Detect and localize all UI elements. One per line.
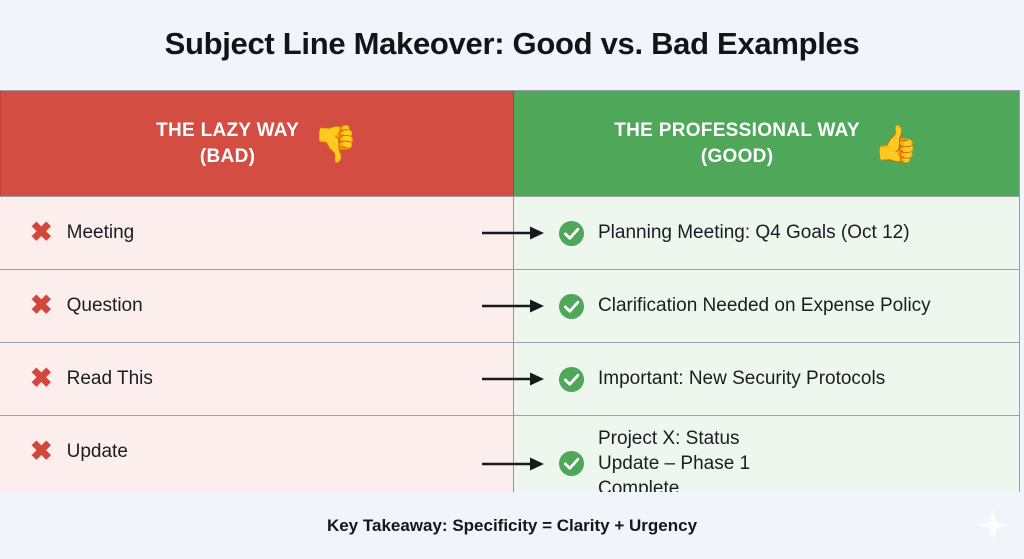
comparison-table: THE LAZY WAY (BAD) 👎 THE PROFESSIONAL WA… bbox=[0, 90, 1020, 512]
x-mark-icon: ✖ bbox=[30, 292, 53, 319]
row-cell-bad: ✖ Question bbox=[0, 270, 513, 342]
good-subject-text: Important: New Security Protocols bbox=[598, 366, 885, 391]
footer: Key Takeaway: Specificity = Clarity + Ur… bbox=[0, 492, 1024, 559]
header-bad-label: THE LAZY WAY (BAD) bbox=[156, 118, 299, 168]
header-good-line1: THE PROFESSIONAL WAY bbox=[614, 120, 860, 141]
x-mark-icon: ✖ bbox=[30, 219, 53, 246]
row-cell-good: Clarification Needed on Expense Policy bbox=[513, 270, 1019, 342]
header-cell-good: THE PROFESSIONAL WAY (GOOD) 👍 bbox=[513, 91, 1019, 196]
header-bad-line1: THE LAZY WAY bbox=[156, 120, 299, 141]
bad-subject-text: Read This bbox=[67, 368, 153, 390]
row-cell-bad: ✖ Meeting bbox=[0, 197, 513, 269]
bad-subject-text: Meeting bbox=[67, 222, 135, 244]
table-row: ✖ Meeting Planning Meeting: Q4 Goals (Oc… bbox=[0, 196, 1019, 269]
x-mark-icon: ✖ bbox=[30, 365, 53, 392]
check-circle-icon bbox=[558, 293, 585, 320]
thumbs-down-icon: 👎 bbox=[313, 126, 358, 162]
table-row: ✖ Read This Important: New Security Prot… bbox=[0, 342, 1019, 415]
good-subject-text: Planning Meeting: Q4 Goals (Oct 12) bbox=[598, 220, 910, 245]
check-circle-icon bbox=[558, 450, 585, 477]
x-mark-icon: ✖ bbox=[30, 438, 53, 465]
good-subject-text: Project X: Status Update – Phase 1 Compl… bbox=[598, 426, 779, 501]
thumbs-up-icon: 👍 bbox=[874, 126, 919, 162]
header-bad-line2: (BAD) bbox=[200, 146, 255, 167]
key-takeaway-text: Key Takeaway: Specificity = Clarity + Ur… bbox=[327, 516, 697, 536]
row-cell-good: Planning Meeting: Q4 Goals (Oct 12) bbox=[513, 197, 1019, 269]
check-circle-icon bbox=[558, 366, 585, 393]
page-title: Subject Line Makeover: Good vs. Bad Exam… bbox=[0, 0, 1024, 61]
good-subject-text: Clarification Needed on Expense Policy bbox=[598, 293, 931, 318]
bad-subject-text: Update bbox=[67, 441, 128, 463]
table-row: ✖ Question Clarification Needed on Expen… bbox=[0, 269, 1019, 342]
four-point-star-icon bbox=[976, 508, 1010, 542]
row-cell-good: Important: New Security Protocols bbox=[513, 343, 1019, 415]
check-circle-icon bbox=[558, 220, 585, 247]
header-cell-bad: THE LAZY WAY (BAD) 👎 bbox=[0, 91, 513, 196]
bad-subject-text: Question bbox=[67, 295, 143, 317]
header-good-label: THE PROFESSIONAL WAY (GOOD) bbox=[614, 118, 860, 168]
row-cell-bad: ✖ Read This bbox=[0, 343, 513, 415]
table-header-row: THE LAZY WAY (BAD) 👎 THE PROFESSIONAL WA… bbox=[0, 91, 1019, 196]
header-good-line2: (GOOD) bbox=[701, 146, 774, 167]
